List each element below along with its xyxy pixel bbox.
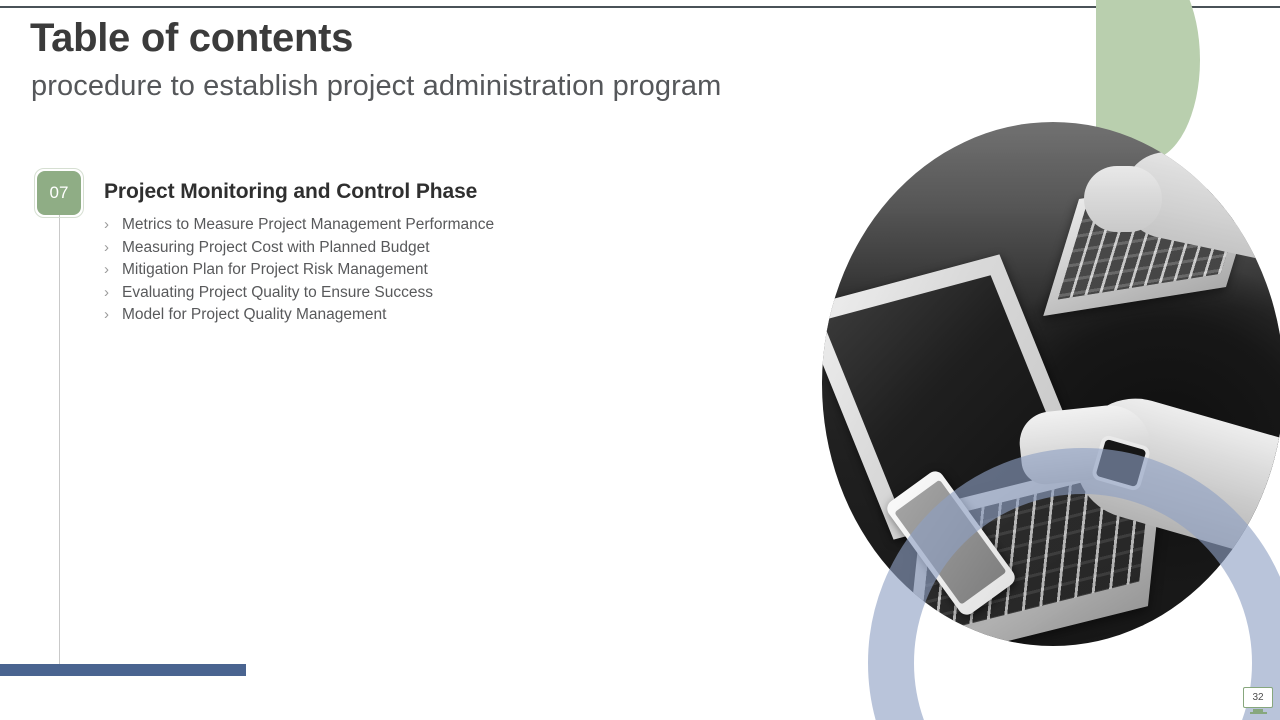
list-item: › Mitigation Plan for Project Risk Manag… xyxy=(104,259,724,282)
section-content: Project Monitoring and Control Phase › M… xyxy=(104,180,724,327)
page-title: Table of contents xyxy=(30,17,353,59)
chevron-right-icon: › xyxy=(104,214,122,237)
list-item: › Model for Project Quality Management xyxy=(104,304,724,327)
section-number-label: 07 xyxy=(37,171,81,215)
list-item-label: Measuring Project Cost with Planned Budg… xyxy=(122,237,430,260)
bottom-accent-bar xyxy=(0,664,246,676)
list-item: › Measuring Project Cost with Planned Bu… xyxy=(104,237,724,260)
chevron-right-icon: › xyxy=(104,282,122,305)
list-item-label: Model for Project Quality Management xyxy=(122,304,386,327)
chevron-right-icon: › xyxy=(104,304,122,327)
page-number-badge: 32 xyxy=(1243,687,1273,713)
section-heading: Project Monitoring and Control Phase xyxy=(104,180,724,204)
list-item-label: Metrics to Measure Project Management Pe… xyxy=(122,214,494,237)
section-number-badge: 07 xyxy=(34,168,84,218)
topic-list: › Metrics to Measure Project Management … xyxy=(104,214,724,327)
monitor-icon: 32 xyxy=(1243,687,1273,708)
monitor-foot-icon xyxy=(1250,712,1267,714)
slide-canvas: Table of contents procedure to establish… xyxy=(0,0,1280,720)
page-number-label: 32 xyxy=(1252,692,1263,703)
hand-fist-graphic xyxy=(1084,166,1162,232)
vertical-connector-line xyxy=(59,205,60,673)
list-item-label: Evaluating Project Quality to Ensure Suc… xyxy=(122,282,433,305)
chevron-right-icon: › xyxy=(104,237,122,260)
list-item: › Evaluating Project Quality to Ensure S… xyxy=(104,282,724,305)
chevron-right-icon: › xyxy=(104,259,122,282)
list-item-label: Mitigation Plan for Project Risk Managem… xyxy=(122,259,428,282)
page-subtitle: procedure to establish project administr… xyxy=(31,70,721,103)
top-divider-rule xyxy=(0,6,1280,8)
list-item: › Metrics to Measure Project Management … xyxy=(104,214,724,237)
